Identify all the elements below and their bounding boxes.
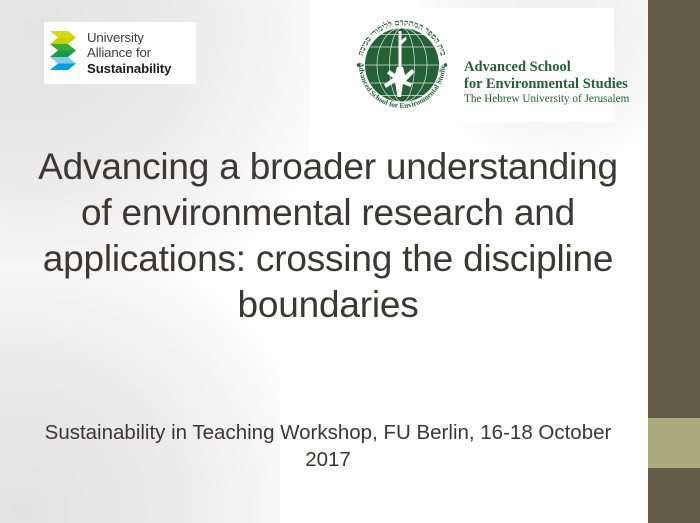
huj-logo-line-1: Advanced School <box>464 59 629 76</box>
uas-logo-line-1: University <box>87 30 171 45</box>
hebrew-university-wordmark: Advanced School for Environmental Studie… <box>464 9 629 121</box>
huj-logo-line-3: The Hebrew University of Jerusalem <box>464 92 629 107</box>
sidebar-segment-accent <box>648 418 700 468</box>
slide-title: Advancing a broader understanding of env… <box>24 144 632 328</box>
uas-logo-line-3: Sustainability <box>87 61 171 76</box>
sidebar-segment-top <box>648 0 700 418</box>
university-alliance-sustainability-logo: University Alliance for Sustainability <box>44 22 196 84</box>
uas-wordmark: University Alliance for Sustainability <box>87 30 171 76</box>
uas-logo-line-2: Alliance for <box>87 45 171 60</box>
hebrew-university-globe-emblem-icon: בית הספר המתקדם ללימודי סביבה Advanced S… <box>346 9 458 121</box>
huj-logo-line-2: for Environmental Studies <box>464 76 629 93</box>
presentation-slide: University Alliance for Sustainability <box>0 0 700 523</box>
uas-zigzag-mark-icon <box>48 29 78 77</box>
hebrew-university-logo: בית הספר המתקדם ללימודי סביבה Advanced S… <box>346 8 614 122</box>
decorative-sidebar <box>648 0 700 523</box>
slide-subtitle: Sustainability in Teaching Workshop, FU … <box>40 420 616 473</box>
sidebar-segment-bottom <box>648 468 700 523</box>
